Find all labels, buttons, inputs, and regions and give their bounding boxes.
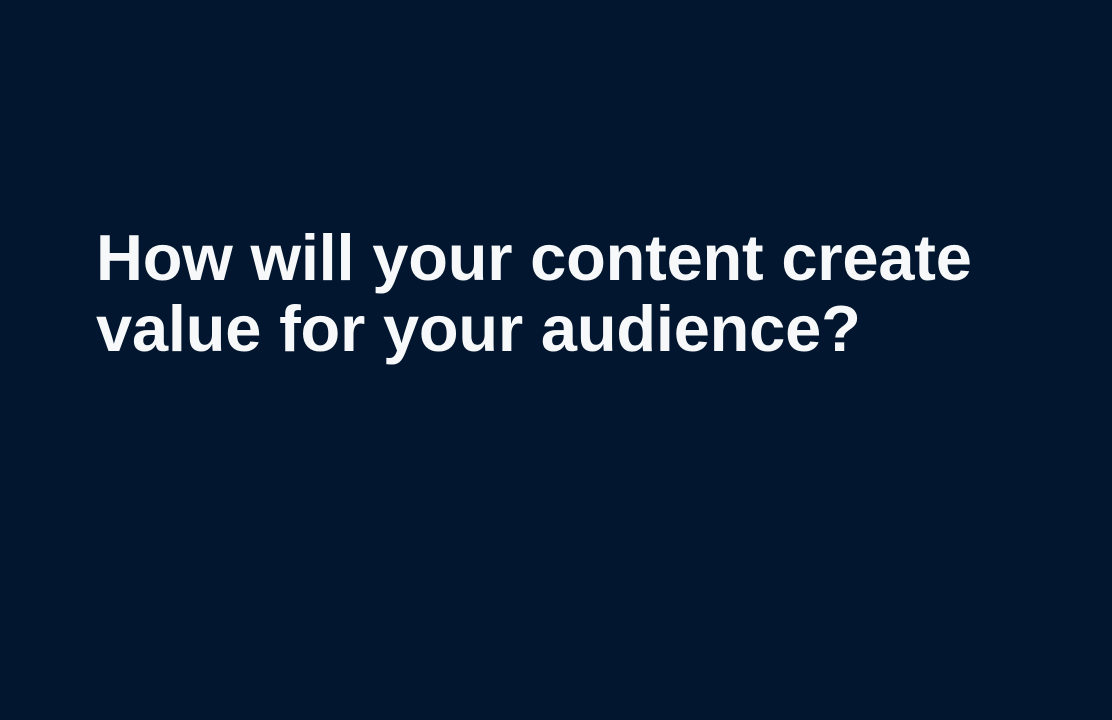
slide-canvas: How will your content create value for y…	[0, 0, 1112, 720]
headline-line-1: How will your content create	[96, 222, 1016, 293]
headline-block: How will your content create value for y…	[96, 222, 1016, 364]
headline-line-2: value for your audience?	[96, 293, 1016, 364]
